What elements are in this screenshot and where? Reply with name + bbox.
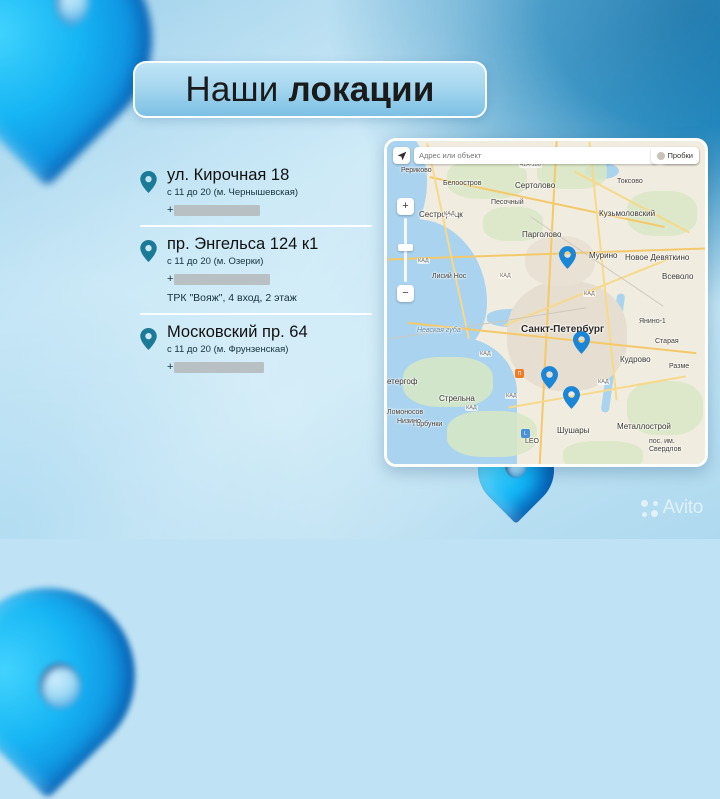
map-label: Разме <box>669 363 689 370</box>
map-label: Рериково <box>401 167 432 174</box>
location-phone: + <box>167 273 372 285</box>
location-marker-icon <box>140 328 157 350</box>
location-list: ул. Кирочная 18с 11 до 20 (м. Чернышевск… <box>140 166 372 373</box>
locate-me-icon[interactable] <box>393 147 410 164</box>
map-label: Шушары <box>557 426 589 435</box>
search-input[interactable] <box>414 151 658 160</box>
map-label: етергоф <box>387 377 417 386</box>
location-item: пр. Энгельса 124 к1с 11 до 20 (м. Озерки… <box>140 235 372 304</box>
map-location-pin-icon[interactable] <box>563 386 580 409</box>
list-divider <box>140 313 372 315</box>
zoom-in-button[interactable]: + <box>397 198 414 215</box>
title-text: Наши локации <box>185 70 434 110</box>
map-label: Свердлов <box>649 446 681 453</box>
map-label: Мурино <box>589 251 617 260</box>
location-marker-icon <box>140 171 157 193</box>
title-bold: локации <box>289 70 435 109</box>
location-phone: + <box>167 361 372 373</box>
map-label: Металлострой <box>617 422 671 431</box>
title-light: Наши <box>185 70 288 109</box>
map-road-shield: КАД <box>417 258 430 264</box>
map-label: Песочный <box>491 199 524 206</box>
map-label: Янино-1 <box>639 318 666 325</box>
map-forest-1 <box>447 159 527 199</box>
location-hours: с 11 до 20 (м. Чернышевская) <box>167 187 372 199</box>
map-label: Стрельна <box>439 394 475 403</box>
map-road-shield: КАД <box>505 393 518 399</box>
decorative-pin-bottom-left-icon <box>0 588 135 763</box>
map-label: Низино <box>397 418 421 425</box>
map-label: Всеволо <box>662 272 693 281</box>
map-panel[interactable]: П L РериковоБелоостровСертоловоТоксовоПе… <box>384 138 708 467</box>
traffic-icon <box>657 152 665 160</box>
map-poi-orange[interactable]: П <box>515 369 524 378</box>
phone-redacted-bar <box>174 362 264 373</box>
map-label: Невская губа <box>417 327 461 334</box>
map-label: Старая <box>655 338 679 345</box>
title-chip: Наши локации <box>133 61 487 118</box>
avito-wordmark: Avito <box>663 497 703 519</box>
map-canvas[interactable]: П L РериковоБелоостровСертоловоТоксовоПе… <box>387 141 705 464</box>
phone-redacted-bar <box>174 205 260 216</box>
list-divider <box>140 225 372 227</box>
location-address: пр. Энгельса 124 к1 <box>167 235 372 254</box>
map-road-shield: КАД <box>583 291 596 297</box>
map-label: Токсово <box>617 178 643 185</box>
avito-watermark: Avito <box>641 497 703 519</box>
map-label: Санкт-Петербург <box>521 324 604 335</box>
map-label: Кудрово <box>620 355 651 364</box>
map-road-shield: КАД <box>597 379 610 385</box>
phone-prefix: + <box>167 205 173 216</box>
phone-prefix: + <box>167 274 173 285</box>
map-label: Белоостров <box>443 180 481 187</box>
map-location-pin-icon[interactable] <box>573 331 590 354</box>
location-item: Московский пр. 64с 11 до 20 (м. Фрунзенс… <box>140 323 372 373</box>
traffic-label: Пробки <box>668 151 694 160</box>
zoom-slider-handle[interactable] <box>398 244 413 251</box>
page-title: Наши локации <box>133 61 487 118</box>
zoom-slider-track[interactable] <box>404 218 407 282</box>
phone-redacted-bar <box>174 274 270 285</box>
map-forest-8 <box>563 441 643 464</box>
location-address: ул. Кирочная 18 <box>167 166 372 185</box>
avito-logo-icon <box>641 500 658 517</box>
map-road-shield: КАД <box>499 273 512 279</box>
map-label: Парголово <box>522 230 561 239</box>
map-label: Лисий Нос <box>432 273 466 280</box>
phone-prefix: + <box>167 362 173 373</box>
map-search-field[interactable] <box>414 147 658 164</box>
map-location-pin-icon[interactable] <box>541 366 558 389</box>
map-label: Новое Девяткино <box>625 253 689 262</box>
map-road-shield: КАД <box>465 405 478 411</box>
location-address: Московский пр. 64 <box>167 323 372 342</box>
map-label: пос. им. <box>649 438 675 445</box>
traffic-button[interactable]: Пробки <box>651 147 700 164</box>
location-marker-icon <box>140 240 157 262</box>
location-phone: + <box>167 204 372 216</box>
map-label: Сертолово <box>515 181 555 190</box>
map-label: Сестрорецк <box>419 210 463 219</box>
map-label: Ломоносов <box>387 409 423 416</box>
map-label: Кузьмоловский <box>599 209 655 218</box>
map-location-pin-icon[interactable] <box>559 246 576 269</box>
map-road-shield: КАД <box>443 211 456 217</box>
map-poi-blue[interactable]: L <box>521 429 530 438</box>
location-item: ул. Кирочная 18с 11 до 20 (м. Чернышевск… <box>140 166 372 216</box>
map-label: LEO <box>525 438 539 445</box>
location-extra: ТРК "Вояж", 4 вход, 2 этаж <box>167 292 372 304</box>
map-zoom-controls[interactable]: + − <box>397 198 414 302</box>
map-road-shield: КАД <box>479 351 492 357</box>
zoom-out-button[interactable]: − <box>397 285 414 302</box>
location-hours: с 11 до 20 (м. Озерки) <box>167 256 372 268</box>
location-hours: с 11 до 20 (м. Фрунзенская) <box>167 344 372 356</box>
